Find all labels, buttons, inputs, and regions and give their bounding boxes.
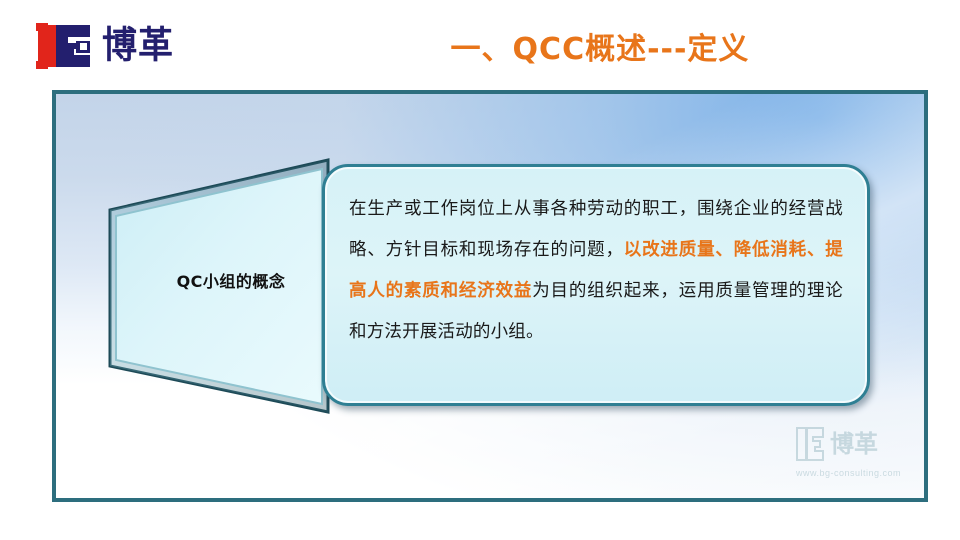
- definition-textbox: 在生产或工作岗位上从事各种劳动的职工，围绕企业的经营战略、方针目标和现场存在的问…: [322, 164, 870, 406]
- content-frame: QC小组的概念 在生产或工作岗位上从事各种劳动的职工，围绕企业的经营战略、方针目…: [52, 90, 928, 502]
- definition-text: 在生产或工作岗位上从事各种劳动的职工，围绕企业的经营战略、方针目标和现场存在的问…: [325, 167, 867, 403]
- page-title: 一、QCC概述---定义: [360, 24, 840, 68]
- slide-canvas: 博革 一、QCC概述---定义: [0, 0, 960, 540]
- bg-monogram-logo-icon: [36, 23, 92, 69]
- brand-logo-text: 博革: [102, 28, 174, 65]
- brand-logo: 博革: [36, 18, 216, 74]
- trapezoid-label: QC小组的概念: [122, 268, 340, 292]
- trapezoid-callout: QC小组的概念: [100, 144, 340, 424]
- slide-header: 博革 一、QCC概述---定义: [0, 0, 960, 90]
